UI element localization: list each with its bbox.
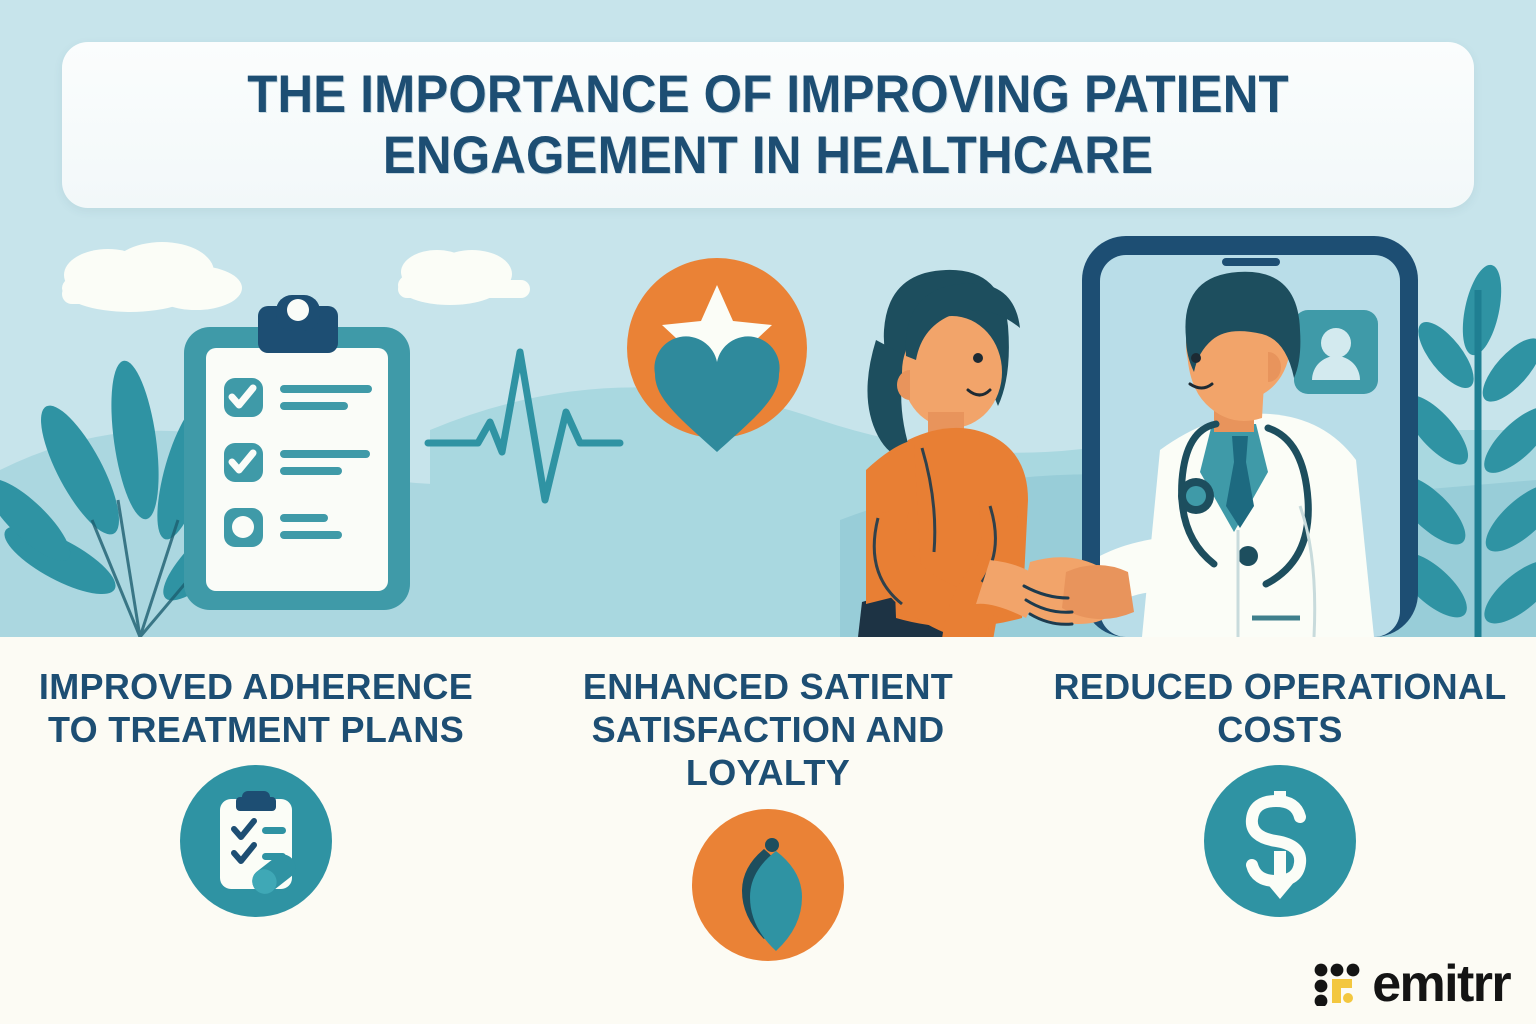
title-card: The Importance of Improving Patient Enga… — [62, 42, 1474, 208]
clipboard-checklist — [184, 295, 410, 610]
title-line-2: Engagement in Healthcare — [383, 126, 1153, 185]
heart-hand-icon — [692, 809, 844, 961]
benefit-icon-wrapper — [1204, 765, 1356, 917]
dollar-down-icon — [1204, 765, 1356, 917]
clipboard-pill-icon — [180, 765, 332, 917]
page-title: The Importance of Improving Patient Enga… — [223, 64, 1313, 187]
benefit-icon-wrapper — [180, 765, 332, 917]
hero-illustration: The Importance of Improving Patient Enga… — [0, 0, 1536, 637]
benefits-columns: Improved Adherence to Treatment Plans — [0, 637, 1536, 967]
benefit-column-adherence: Improved Adherence to Treatment Plans — [0, 637, 512, 967]
benefit-label: Improved Adherence to Treatment Plans — [15, 665, 496, 751]
dot-grid-r-icon — [1314, 962, 1360, 1006]
benefits-section: Improved Adherence to Treatment Plans — [0, 637, 1536, 1024]
benefit-icon-wrapper — [692, 809, 844, 961]
avatar-card-icon — [1294, 310, 1378, 394]
logo-wordmark: emitrr — [1372, 958, 1510, 1010]
benefit-column-satisfaction: Enhanced Satient Satisfaction and Loyalt… — [512, 637, 1024, 967]
benefit-column-costs: Reduced Operational Costs — [1024, 637, 1536, 967]
emitrr-logo[interactable]: emitrr — [1314, 958, 1510, 1010]
benefit-label: Reduced Operational Costs — [1039, 665, 1520, 751]
benefit-label: Enhanced Satient Satisfaction and Loyalt… — [527, 665, 1008, 795]
infographic-canvas: The Importance of Improving Patient Enga… — [0, 0, 1536, 1024]
title-line-1: The Importance of Improving Patient — [247, 65, 1289, 124]
